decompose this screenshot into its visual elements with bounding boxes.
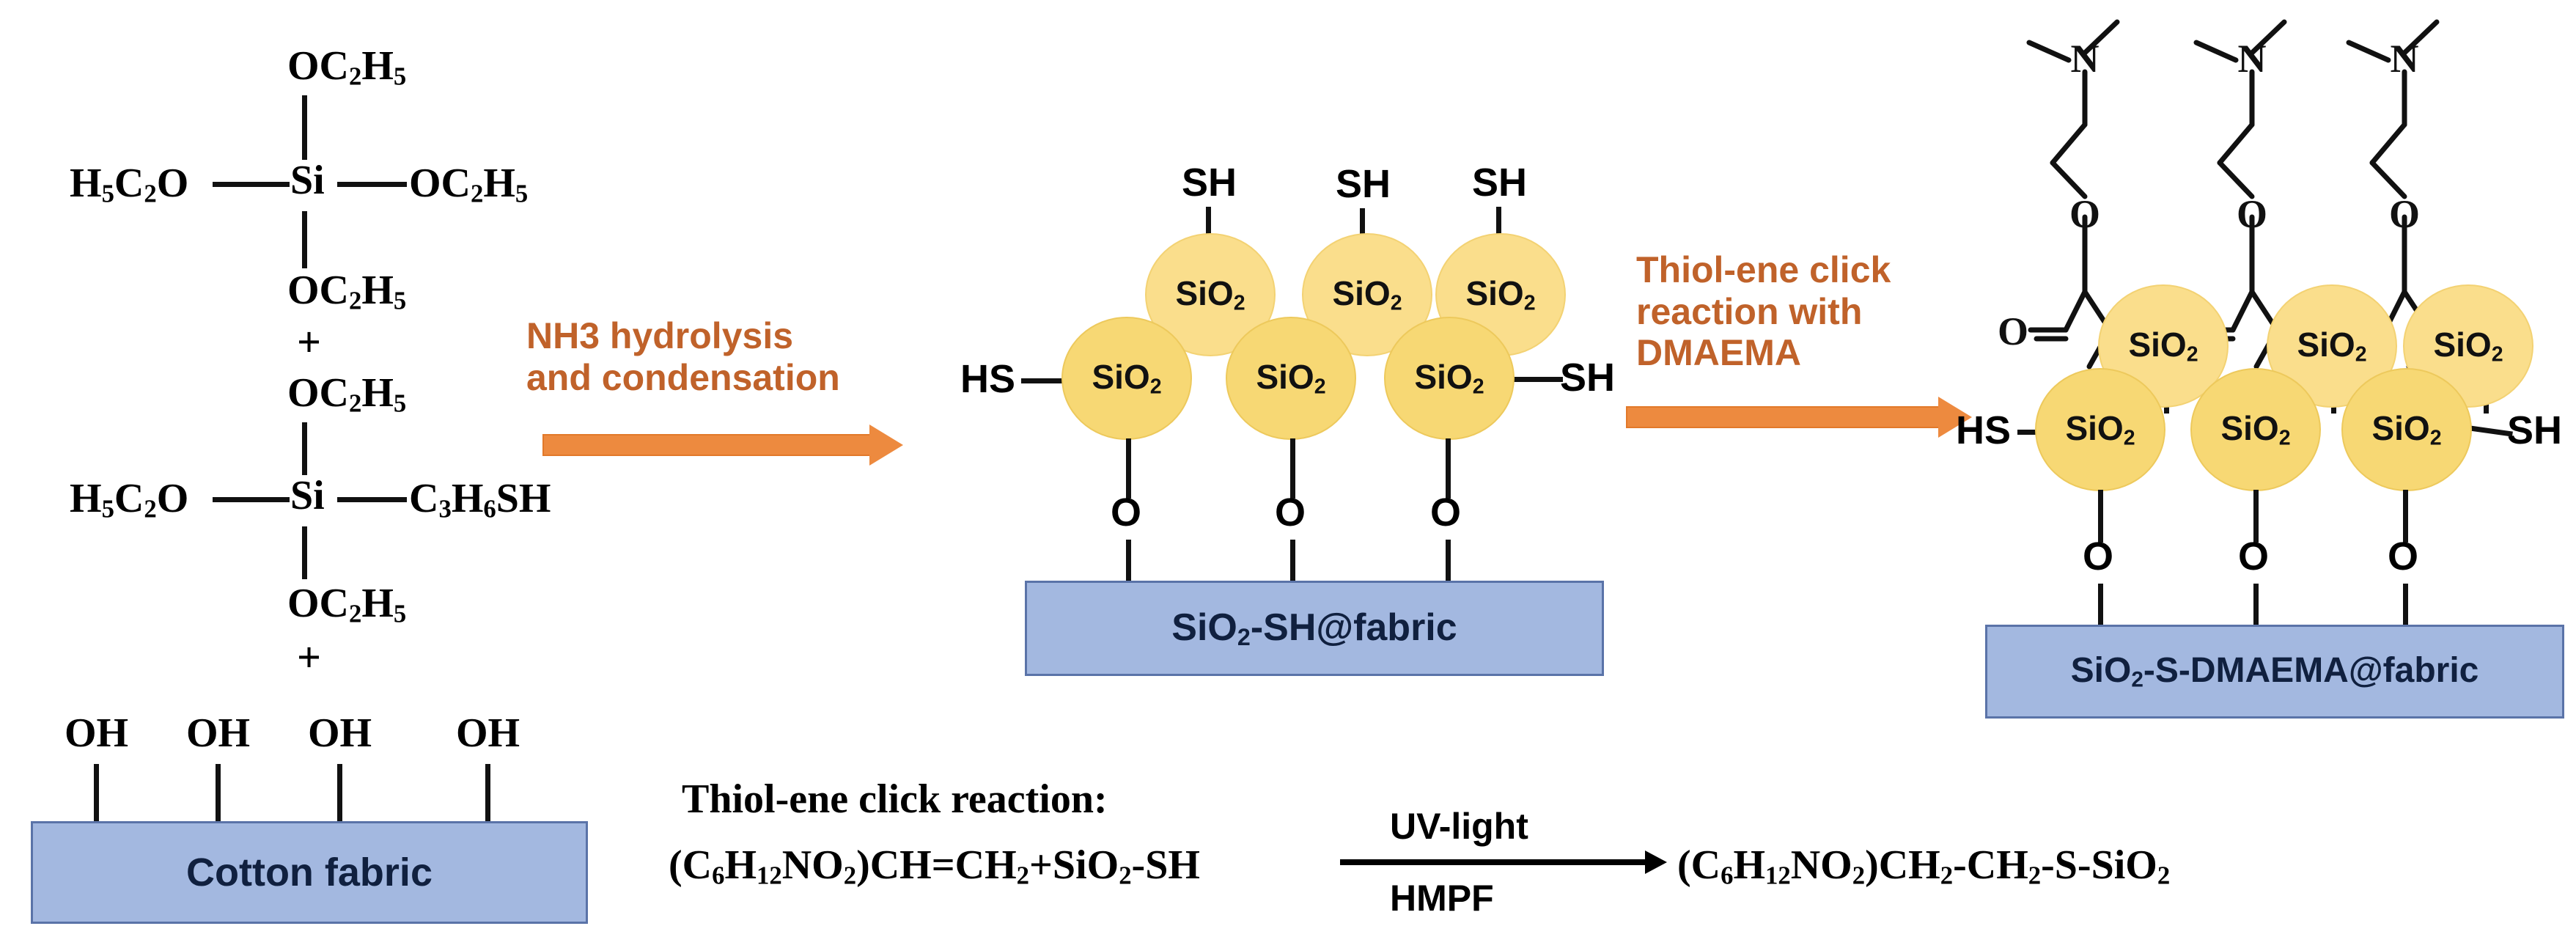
arrow-1-shaft [542, 434, 872, 456]
bond-oh-3 [337, 764, 342, 824]
stage2-oxygen-2: O [1275, 493, 1306, 532]
stage3-particle-bottom-2: SiO2 [2190, 368, 2321, 491]
stage3-bond-o-2b [2253, 584, 2259, 629]
stage3-right-thiol: SH [2507, 411, 2562, 450]
teos-top-group: OC2H5 [287, 45, 406, 89]
arrow-1-head [869, 425, 903, 466]
bond-teos-right [337, 182, 407, 187]
stage2-top-thiol-3: SH [1472, 163, 1527, 202]
stage2-bond-o-3b [1446, 540, 1451, 585]
reaction-arrow-1-group: NH3 hydrolysisand condensation [513, 315, 953, 491]
stage3-particle-bottom-1: SiO2 [2035, 368, 2165, 491]
bond-teos-top [302, 95, 307, 160]
mptes-bottom-group: OC2H5 [287, 583, 406, 627]
hydroxyl-label-3: OH [308, 713, 372, 754]
teos-left-group: H5C2O [70, 163, 188, 207]
arrow2-line3: DMAEMA [1636, 332, 1801, 373]
stage3-oxygen-3: O [2388, 537, 2418, 576]
stage2-bond-o-2a [1290, 438, 1295, 499]
stage2-oxygen-1: O [1111, 493, 1141, 532]
bond-mptes-right [337, 497, 407, 502]
stage3-bond-right-sh [2468, 425, 2513, 437]
figure-canvas: OC2H5 H5C2O Si OC2H5 OC2H5 + OC2H5 H5C2O… [0, 0, 2576, 948]
plus-sign-2: + [297, 636, 321, 679]
equation-arrow-head [1645, 850, 1667, 874]
stage2-left-thiol: HS [960, 359, 1015, 399]
mptes-left-group: H5C2O [70, 478, 188, 522]
stage3-oxygen-1: O [2083, 537, 2113, 576]
dmaema-1-carbonyl-oxygen: O [1998, 309, 2028, 353]
bond-teos-left [213, 182, 290, 187]
stage2-bond-right-sh [1510, 377, 1563, 382]
arrow2-line1: Thiol-ene click [1636, 249, 1891, 290]
stage3-particle-bottom-3: SiO2 [2341, 368, 2472, 491]
dmaema-2-nitrogen: N [2238, 37, 2267, 81]
hydroxyl-label-2: OH [186, 713, 250, 754]
stage2-top-thiol-1: SH [1182, 163, 1237, 202]
stage2-bond-o-3a [1446, 438, 1451, 499]
stage2-bond-o-1b [1126, 540, 1131, 585]
stage2-particle-bottom-2: SiO2 [1226, 317, 1356, 440]
dmaema-1-nitrogen: N [2071, 37, 2100, 81]
bond-oh-4 [485, 764, 490, 824]
stage2-fabric-box: SiO2-SH@fabric [1025, 581, 1604, 676]
arrow1-line2: and condensation [526, 357, 840, 398]
stage2-particle-bottom-1: SiO2 [1061, 317, 1192, 440]
bond-mptes-bottom [302, 526, 307, 579]
bond-oh-2 [216, 764, 221, 824]
stage3-oxygen-2: O [2238, 537, 2269, 576]
stage3-left-thiol: HS [1956, 411, 2011, 450]
arrow2-line2: reaction with [1636, 291, 1862, 332]
stage3-fabric-box: SiO2-S-DMAEMA@fabric [1985, 625, 2564, 719]
hydroxyl-label-1: OH [65, 713, 128, 754]
bond-oh-1 [94, 764, 99, 824]
bond-mptes-left [213, 497, 290, 502]
stage2-particle-bottom-3: SiO2 [1384, 317, 1515, 440]
stage2-top-thiol-2: SH [1336, 164, 1391, 204]
hydroxyl-label-4: OH [456, 713, 520, 754]
equation-products: (C6H12NO2)CH2-CH2-S-SiO2 [1677, 842, 2170, 891]
bond-teos-bottom [302, 211, 307, 268]
stage3-bond-o-3b [2403, 584, 2408, 629]
equation-condition-above: UV-light [1390, 805, 1528, 848]
dmaema-3-nitrogen: N [2391, 37, 2419, 81]
reaction-arrow-2-label: Thiol-ene clickreaction withDMAEMA [1636, 249, 2032, 374]
stage2-right-thiol: SH [1560, 358, 1615, 397]
bond-mptes-top [302, 422, 307, 475]
stage2-oxygen-3: O [1430, 493, 1461, 532]
reaction-arrow-1-label: NH3 hydrolysisand condensation [526, 315, 952, 398]
mptes-center-atom: Si [290, 475, 325, 516]
arrow1-line1: NH3 hydrolysis [526, 315, 793, 356]
equation-condition-below: HMPF [1390, 877, 1494, 919]
teos-bottom-group: OC2H5 [287, 270, 406, 314]
arrow-2-shaft [1626, 406, 1941, 428]
cotton-fabric-box: Cotton fabric [31, 821, 588, 924]
equation-arrow-shaft [1340, 859, 1648, 865]
stage2-fabric-label: SiO2-SH@fabric [1171, 606, 1457, 651]
equation-reactants: (C6H12NO2)CH=CH2+SiO2-SH [669, 842, 1200, 891]
stage2-bond-o-2b [1290, 540, 1295, 585]
cotton-fabric-label: Cotton fabric [186, 850, 433, 895]
stage3-bond-o-1b [2098, 584, 2103, 629]
stage3-fabric-label: SiO2-S-DMAEMA@fabric [2071, 650, 2479, 693]
plus-sign-1: + [297, 321, 321, 364]
stage2-bond-o-1a [1126, 438, 1131, 499]
teos-right-group: OC2H5 [409, 163, 528, 207]
mptes-top-group: OC2H5 [287, 372, 406, 416]
teos-center-atom: Si [290, 160, 325, 201]
equation-heading: Thiol-ene click reaction: [682, 776, 1108, 823]
